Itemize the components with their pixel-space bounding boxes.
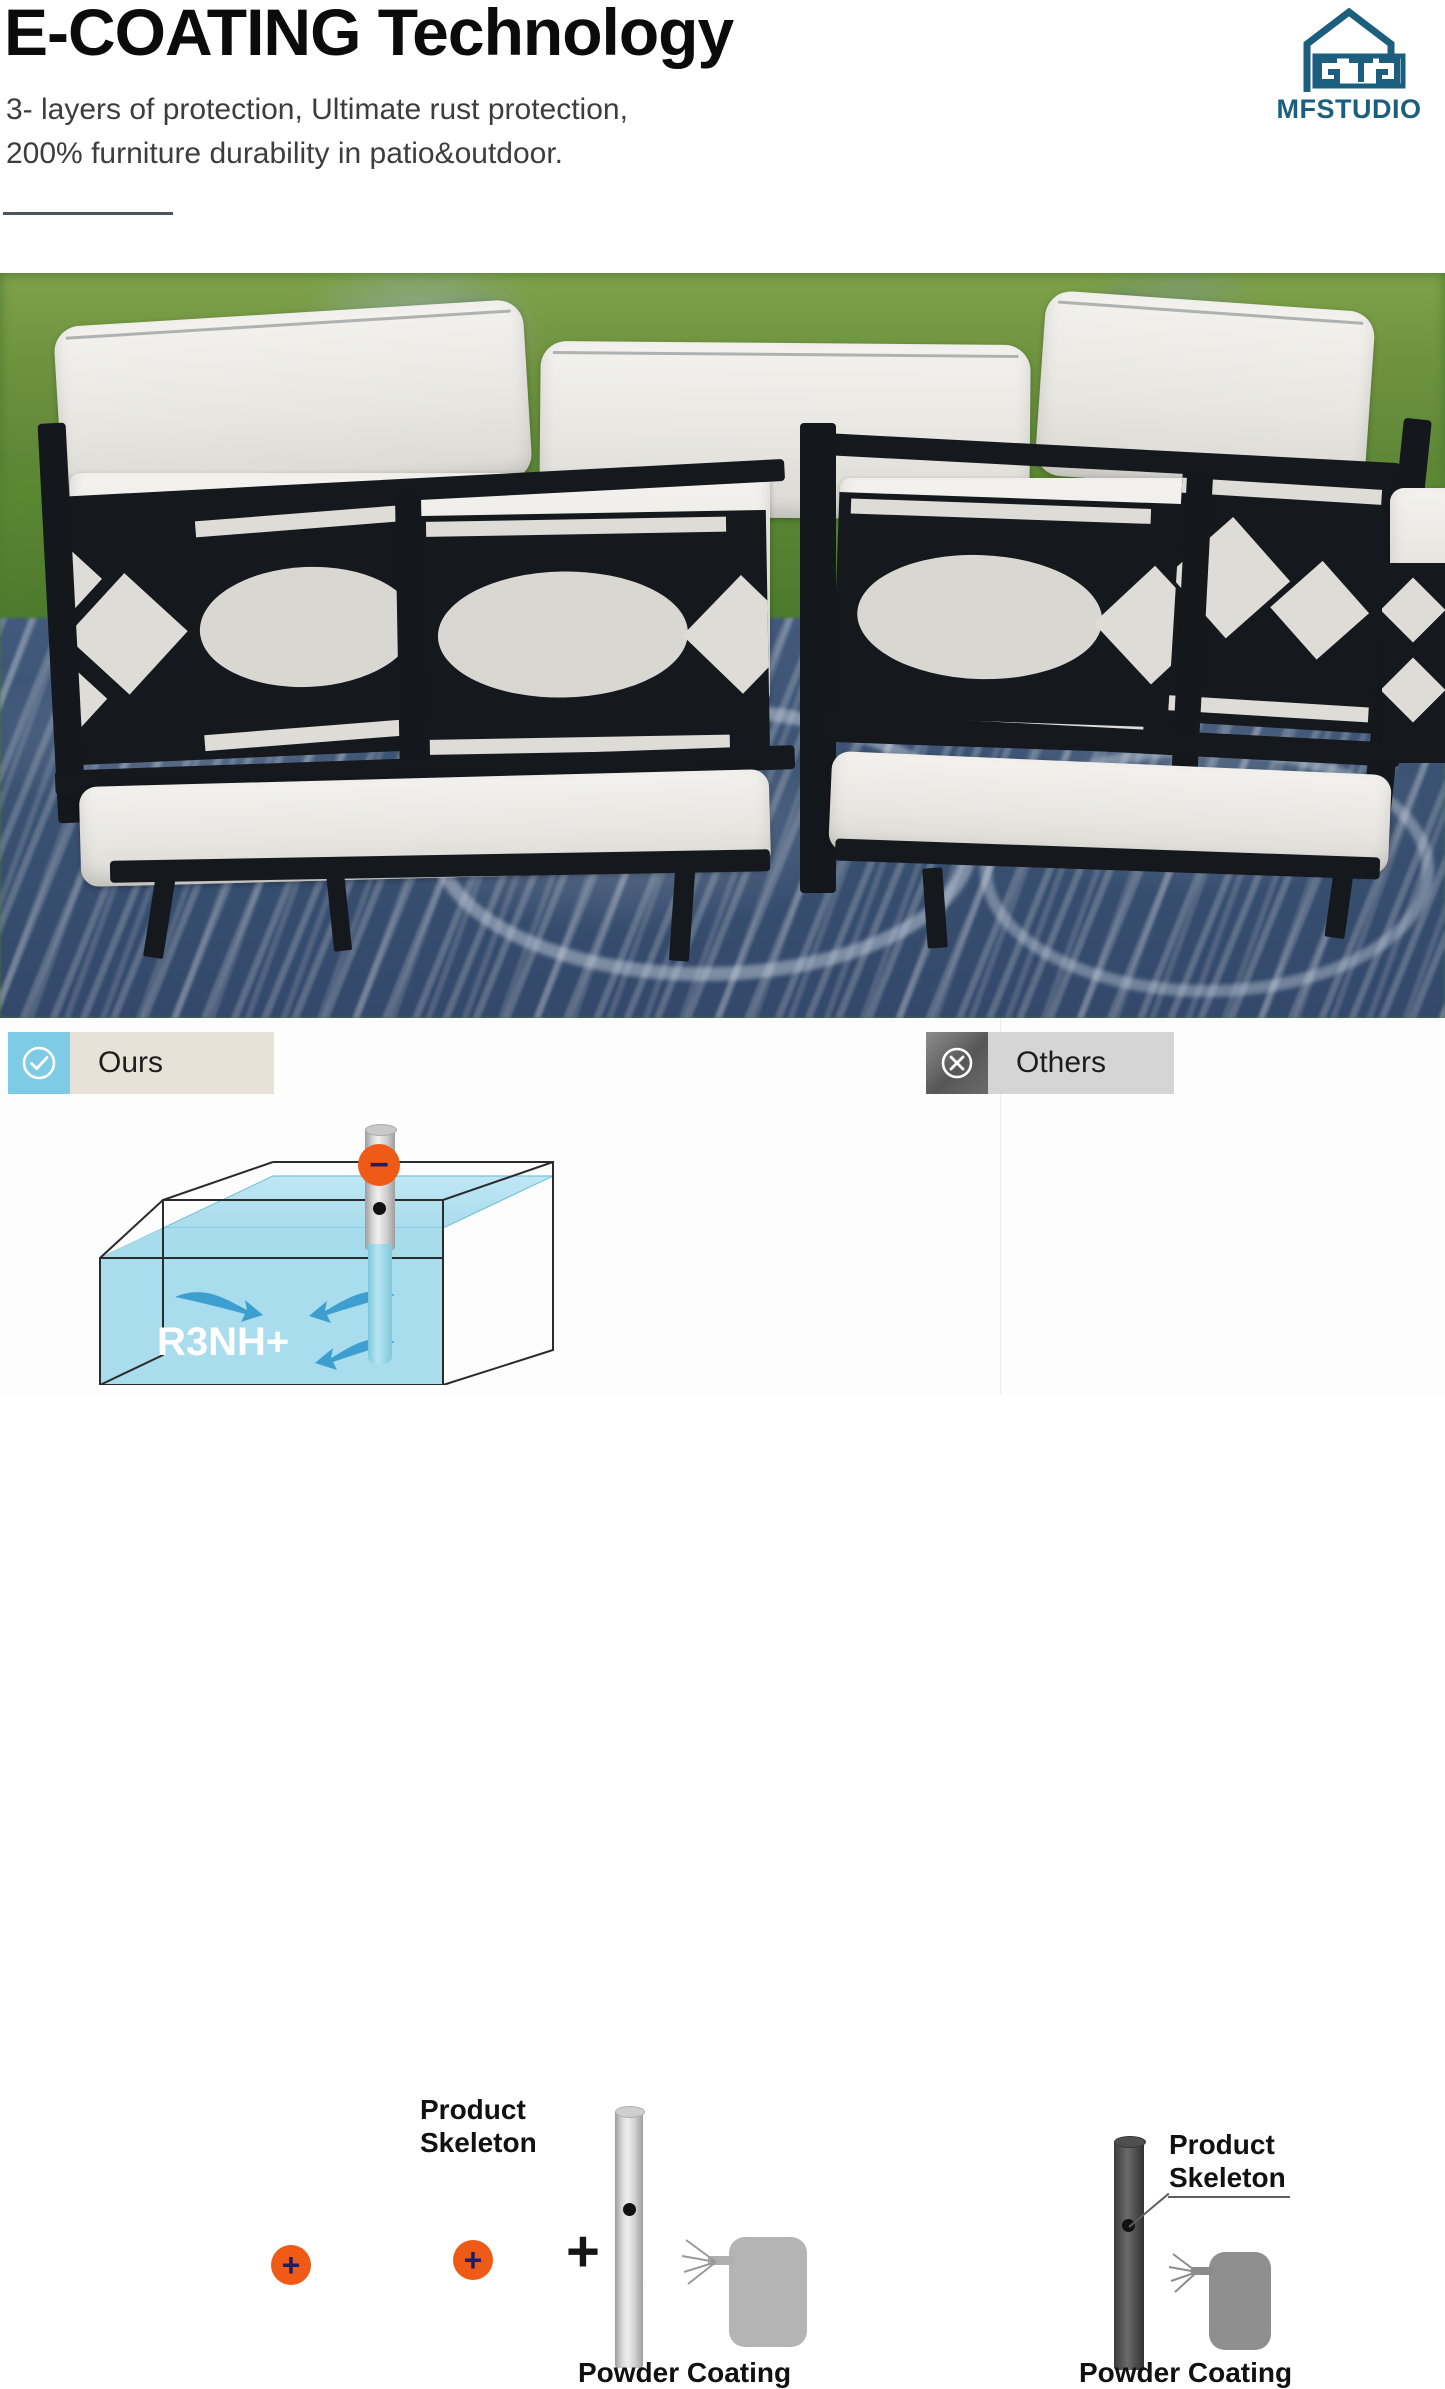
ours-coated-rod-cap <box>615 2106 645 2118</box>
page-subtitle: 3- layers of protection, Ultimate rust p… <box>6 88 866 175</box>
product-photo <box>0 273 1445 1018</box>
others-label-bar: Others <box>988 1032 1174 1094</box>
panel-others: Others Product Skeleton <box>1000 1018 1445 1394</box>
electrolyte-label: R3NH+ <box>157 1320 289 1364</box>
others-rod-cap <box>1114 2136 1146 2148</box>
title-divider <box>3 212 173 215</box>
ours-rod-contact-dot <box>623 2203 636 2216</box>
sofa-leg-2 <box>326 870 352 951</box>
ours-spray-mist-icon <box>680 2236 720 2288</box>
others-header: Others <box>926 1032 1174 1094</box>
positive-ion-right: + <box>453 2240 493 2280</box>
others-spray-mist-icon <box>1167 2250 1201 2296</box>
sofa-leg-4 <box>922 867 948 948</box>
others-powder-coating-label: Powder Coating <box>1079 2356 1292 2389</box>
ours-powder-coating-label: Powder Coating <box>578 2356 791 2389</box>
ours-coated-rod <box>615 2110 643 2368</box>
cathode-charge-badge: − <box>358 1144 400 1186</box>
check-circle-icon <box>8 1032 70 1094</box>
patio-sofa <box>0 273 1445 1018</box>
header-section: E-COATING Technology 3- layers of protec… <box>0 0 1445 273</box>
lattice-panel-center-left <box>416 510 770 766</box>
sofa-leg-3 <box>669 870 695 961</box>
cathode-rod-submerged <box>368 1244 392 1364</box>
brand-name: MFSTUDIO <box>1263 94 1435 125</box>
lattice-panel-left <box>55 500 421 765</box>
electrocoating-tank-diagram: R3NH+ <box>95 1150 585 1385</box>
lattice-panel-center-right <box>831 492 1185 754</box>
ours-skeleton-label: Product Skeleton <box>420 2093 537 2159</box>
panel-ours: Ours <box>0 1018 1000 1394</box>
positive-ion-left: + <box>271 2245 311 2285</box>
others-label: Others <box>1016 1046 1106 1080</box>
ours-header: Ours <box>8 1032 274 1094</box>
others-skeleton-label: Product Skeleton <box>1169 2128 1286 2194</box>
plus-operator: + <box>566 2223 600 2281</box>
brand-logo: MFSTUDIO <box>1263 6 1435 128</box>
house-monogram-icon <box>1263 6 1435 98</box>
side-chair-lattice <box>1382 563 1445 763</box>
cathode-rod-cap <box>365 1124 397 1136</box>
ours-label: Ours <box>98 1046 163 1080</box>
others-rod <box>1114 2140 1144 2370</box>
subtitle-line-2: 200% furniture durability in patio&outdo… <box>6 132 866 176</box>
others-spray-gun-body <box>1209 2252 1271 2350</box>
infographic-page: E-COATING Technology 3- layers of protec… <box>0 0 1445 1394</box>
x-circle-icon <box>926 1032 988 1094</box>
page-title: E-COATING Technology <box>4 0 733 69</box>
ours-spray-gun-body <box>729 2237 807 2347</box>
subtitle-line-1: 3- layers of protection, Ultimate rust p… <box>6 93 628 126</box>
comparison-section: Ours <box>0 1018 1445 1394</box>
ours-label-bar: Ours <box>70 1032 274 1094</box>
cathode-contact-dot <box>373 1202 386 1215</box>
others-leader-line-horizontal <box>1168 2196 1290 2198</box>
